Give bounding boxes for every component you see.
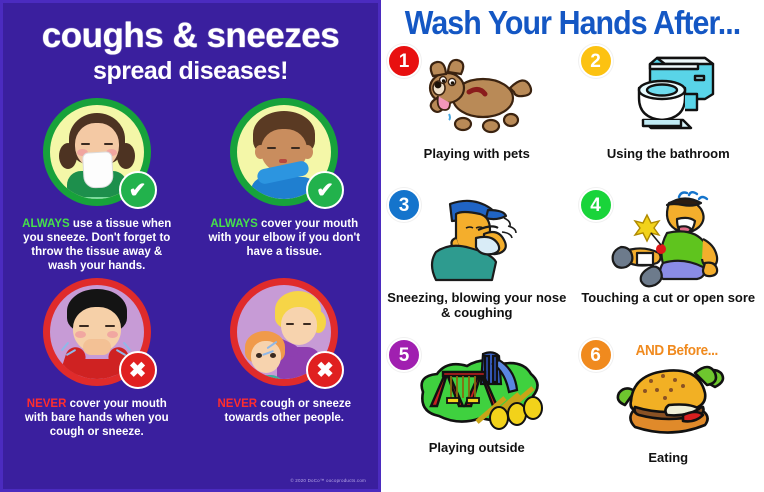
- panel-never-toward-others: ✖ NEVER cough or sneeze towards other pe…: [191, 273, 379, 439]
- sick-person-icon: [411, 192, 543, 288]
- item-label: Sneezing, blowing your nose & coughing: [381, 288, 573, 320]
- item-label: Playing outside: [429, 438, 525, 455]
- wash-item-eating: AND Before... 6: [573, 336, 764, 482]
- wash-item-touching-a-cut: 4: [573, 186, 764, 336]
- panel-art-wrap: ✖: [197, 273, 373, 391]
- item-label: Using the bathroom: [607, 144, 730, 161]
- copyright-notice: © 2020 DoCo™ oocoproducts.com: [290, 478, 366, 483]
- caption-keyword: ALWAYS: [210, 218, 258, 230]
- item-label: Playing with pets: [424, 144, 530, 161]
- playground-icon: [411, 342, 543, 438]
- right-poster-title: Wash Your Hands After...: [396, 0, 748, 42]
- wash-item-using-the-bathroom: 2: [573, 42, 764, 186]
- panel-caption: NEVER cover your mouth with bare hands w…: [9, 391, 185, 439]
- toilet-icon: [602, 48, 734, 144]
- injured-child-icon: [602, 192, 734, 288]
- dog-icon: [411, 48, 543, 144]
- wash-item-sneezing-blowing-nose: 3: [381, 186, 573, 336]
- panel-never-bare-hands: ✖ NEVER cover your mouth with bare hands…: [3, 273, 191, 439]
- status-badge-check: ✔: [306, 171, 344, 209]
- coughs-and-sneezes-poster: coughs & sneezes spread diseases!: [0, 0, 381, 492]
- left-poster-title-line1: coughs & sneezes: [3, 3, 378, 55]
- poster-pair: coughs & sneezes spread diseases!: [0, 0, 764, 492]
- status-badge-cross: ✖: [306, 351, 344, 389]
- status-badge-cross: ✖: [119, 351, 157, 389]
- caption-keyword: ALWAYS: [22, 218, 70, 230]
- wash-your-hands-poster: Wash Your Hands After... 1: [381, 0, 764, 492]
- item-label: Eating: [648, 448, 688, 465]
- status-badge-check: ✔: [119, 171, 157, 209]
- wash-item-playing-with-pets: 1: [381, 42, 573, 186]
- panel-always-use-tissue: ✔ ALWAYS use a tissue when you sneeze. D…: [3, 93, 191, 273]
- panel-art-wrap: ✔: [197, 93, 373, 211]
- panel-always-cover-with-elbow: ✔ ALWAYS cover your mouth with your elbo…: [191, 93, 379, 273]
- hamburger-icon: [602, 352, 734, 448]
- item-label: Touching a cut or open sore: [581, 288, 755, 305]
- caption-keyword: NEVER: [27, 398, 67, 410]
- wash-hands-item-grid: 1: [381, 42, 764, 482]
- panel-caption: NEVER cough or sneeze towards other peop…: [197, 391, 373, 425]
- panel-art-wrap: ✔: [9, 93, 185, 211]
- left-poster-title-line2: spread diseases!: [3, 55, 378, 85]
- wash-item-playing-outside: 5: [381, 336, 573, 482]
- panel-art-wrap: ✖: [9, 273, 185, 391]
- panel-caption: ALWAYS cover your mouth with your elbow …: [197, 211, 373, 259]
- caption-keyword: NEVER: [217, 398, 257, 410]
- panel-caption: ALWAYS use a tissue when you sneeze. Don…: [9, 211, 185, 273]
- left-panel-grid: ✔ ALWAYS use a tissue when you sneeze. D…: [3, 93, 378, 439]
